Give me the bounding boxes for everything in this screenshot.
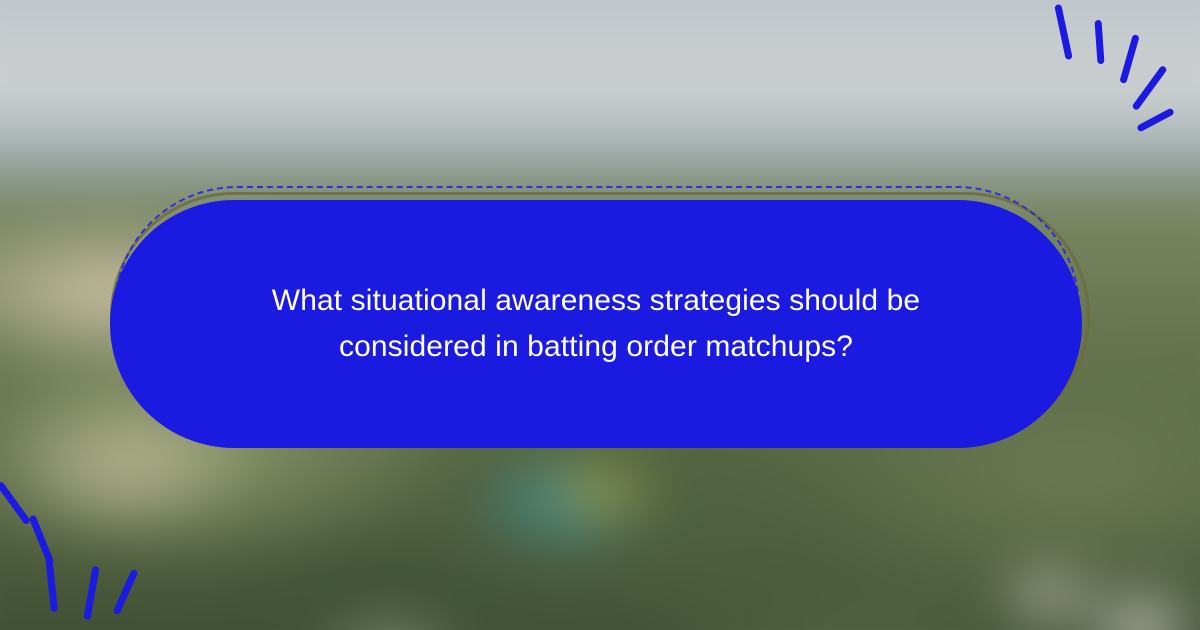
background-building-3 <box>310 615 468 630</box>
background-highlight-patch <box>534 465 666 518</box>
bubble-body: What situational awareness strategies sh… <box>110 200 1082 448</box>
background-building-2 <box>996 563 1102 630</box>
question-text: What situational awareness strategies sh… <box>156 278 1036 369</box>
sparkle-burst-icon <box>0 470 160 630</box>
social-card: What situational awareness strategies sh… <box>0 0 1200 630</box>
sparkle-burst-icon <box>1040 0 1200 140</box>
question-bubble: What situational awareness strategies sh… <box>104 186 1094 448</box>
